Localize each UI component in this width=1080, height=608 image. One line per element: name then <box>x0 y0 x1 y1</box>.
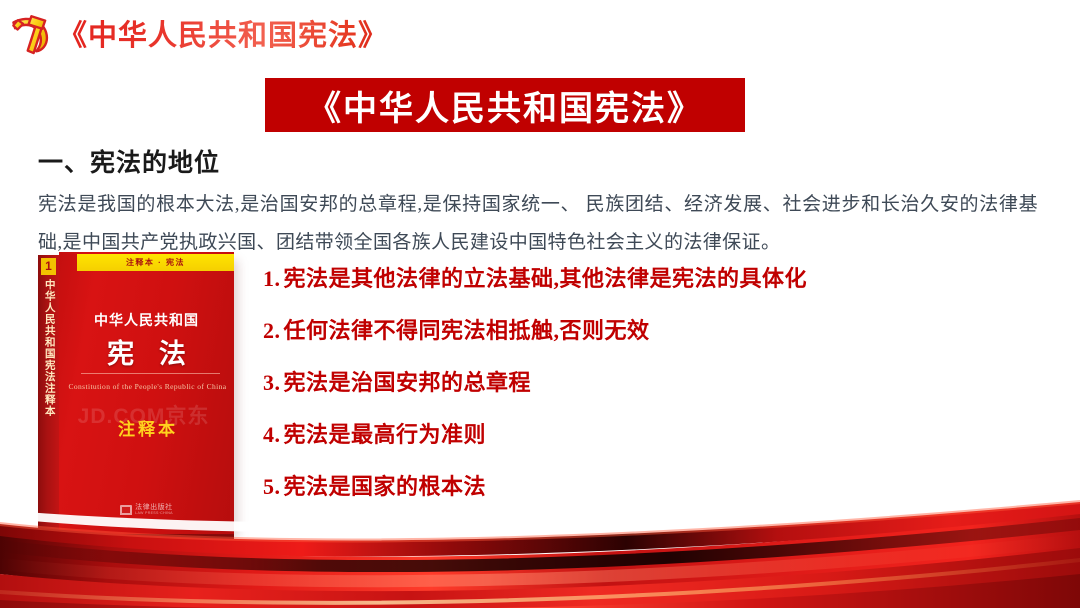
publisher-name-cn: 法律出版社 <box>135 504 173 511</box>
cpc-emblem-icon <box>6 8 56 58</box>
constitution-book-image: 1 中华人民共和国宪法注释本 注释本 · 宪法 中华人民共和国 宪 法 Cons… <box>38 252 238 537</box>
book-cover-line1: 中华人民共和国 <box>59 310 234 330</box>
book-cover-subtitle: 注释本 <box>59 415 234 440</box>
key-points-list: 1.宪法是其他法律的立法基础,其他法律是宪法的具体化 2.任何法律不得同宪法相抵… <box>263 268 963 528</box>
header-title: 《中华人民共和国宪法》 <box>58 12 388 54</box>
list-item: 2.任何法律不得同宪法相抵触,否则无效 <box>263 320 963 342</box>
list-item-text: 任何法律不得同宪法相抵触,否则无效 <box>284 318 650 343</box>
slide-header: 《中华人民共和国宪法》 <box>0 4 388 62</box>
list-item-number: 3. <box>263 370 281 395</box>
book-spine-text: 中华人民共和国宪法注释本 <box>42 279 55 417</box>
list-item: 4.宪法是最高行为准则 <box>263 424 963 446</box>
book-cover-divider <box>81 373 220 374</box>
publisher-names: 法律出版社 LAW PRESS·CHINA <box>135 504 173 516</box>
book-top-band-text: 注释本 · 宪法 <box>126 257 185 268</box>
book-spine-number: 1 <box>41 258 56 275</box>
publisher-name-en: LAW PRESS·CHINA <box>135 512 173 516</box>
list-item: 1.宪法是其他法律的立法基础,其他法律是宪法的具体化 <box>263 268 963 290</box>
list-item-number: 1. <box>263 266 281 291</box>
list-item-number: 2. <box>263 318 281 343</box>
book-top-band: 注释本 · 宪法 <box>77 254 234 271</box>
intro-paragraph: 宪法是我国的根本大法,是治国安邦的总章程,是保持国家统一、 民族团结、经济发展、… <box>38 186 1038 262</box>
list-item-text: 宪法是国家的根本法 <box>284 474 487 499</box>
book-spine: 1 中华人民共和国宪法注释本 <box>38 255 59 533</box>
title-banner-text: 《中华人民共和国宪法》 <box>307 81 703 130</box>
list-item-text: 宪法是最高行为准则 <box>284 422 487 447</box>
slide-canvas: 《中华人民共和国宪法》 《中华人民共和国宪法》 一、宪法的地位 宪法是我国的根本… <box>0 0 1080 608</box>
list-item-number: 4. <box>263 422 281 447</box>
publisher-logo: 法律出版社 LAW PRESS·CHINA <box>59 504 234 516</box>
book-bottom-edge <box>38 534 234 540</box>
list-item-text: 宪法是其他法律的立法基础,其他法律是宪法的具体化 <box>284 266 808 291</box>
book-cover-line2: 宪 法 <box>59 332 234 371</box>
book-cover-english: Constitution of the People's Republic of… <box>67 380 228 393</box>
list-item-number: 5. <box>263 474 281 499</box>
section-heading: 一、宪法的地位 <box>38 143 220 179</box>
title-banner: 《中华人民共和国宪法》 <box>265 78 745 132</box>
list-item: 3.宪法是治国安邦的总章程 <box>263 372 963 394</box>
list-item-text: 宪法是治国安邦的总章程 <box>284 370 532 395</box>
book-front-cover: 注释本 · 宪法 中华人民共和国 宪 法 Constitution of the… <box>59 252 234 534</box>
list-item: 5.宪法是国家的根本法 <box>263 476 963 498</box>
publisher-mark-icon <box>120 505 132 515</box>
